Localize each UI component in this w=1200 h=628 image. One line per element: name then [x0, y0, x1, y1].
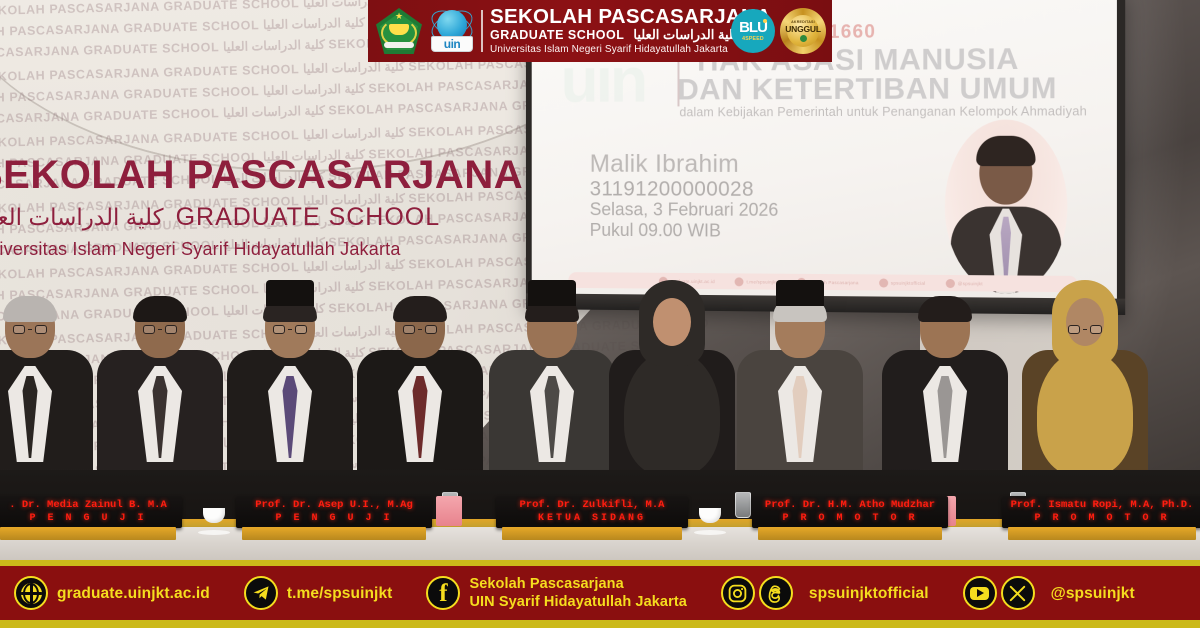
slide-date: Selasa, 3 Februari 2026 [590, 199, 779, 220]
nameplate-stand [758, 527, 942, 540]
x-icon [1001, 576, 1035, 610]
unggul-accreditation-icon: AKREDITASI UNGGUL [780, 8, 826, 54]
person-face [653, 298, 691, 346]
facebook-label-block: Sekolah Pascasarjana UIN Syarif Hidayatu… [469, 575, 686, 611]
nameplate-name: Prof. Dr. Asep U.I., M.Ag [255, 499, 413, 512]
banner-divider [481, 10, 483, 52]
nameplate: Prof. Dr. Zulkifli, M.AKETUA SIDANG [496, 496, 688, 528]
website-label: graduate.uinjkt.ac.id [57, 584, 210, 603]
nameplate: . Dr. Media Zainul B. M.AP E N G U J I [0, 496, 182, 528]
person-eyeglasses [273, 325, 307, 334]
banner-text-block: SEKOLAH PASCASARJANA GRADUATE SCHOOL كلي… [490, 6, 725, 56]
slide-title-line2: DAN KETERTIBAN UMUM [677, 72, 1056, 108]
backdrop-headline: SEKOLAH PASCASARJANA كلية الدراسات العلي… [0, 155, 516, 260]
banner-subtitle: Universitas Islam Negeri Syarif Hidayatu… [490, 43, 725, 56]
kemenag-logo-icon: ★ [376, 8, 422, 54]
nameplate-name: Prof. Ismatu Ropi, M.A, Ph.D. [1011, 499, 1194, 512]
slide-candidate-nim: 31191200000028 [590, 178, 754, 202]
person-hijab [624, 350, 720, 476]
banner-title-en: GRADUATE SCHOOL [490, 28, 624, 43]
person-face [1066, 298, 1104, 346]
nameplate-stand [502, 527, 682, 540]
blu-wordmark: BLU [739, 21, 767, 35]
person-eyeglasses [403, 325, 437, 334]
footer-item-instagram-threads[interactable]: spsuinjktofficial [721, 576, 929, 610]
nameplate: Prof. Ismatu Ropi, M.A, Ph.D.P R O M O T… [1002, 496, 1200, 528]
slide-candidate-name: Malik Ibrahim [590, 150, 739, 179]
person-hair [918, 296, 972, 322]
nameplate-stand [1008, 527, 1196, 540]
person-songkok-cap [266, 280, 314, 306]
footer-item-telegram[interactable]: t.me/spsuinjkt [244, 576, 393, 610]
slide-subtitle: dalam Kebijakan Pemerintah untuk Penanga… [679, 104, 1087, 119]
institution-banner: ★ uin SEKOLAH PASCASARJANA GRADUATE SCHO… [368, 0, 832, 62]
facebook-label-line1: Sekolah Pascasarjana [469, 575, 686, 593]
facebook-icon: f [426, 576, 460, 610]
instagram-threads-label: spsuinjktofficial [809, 584, 929, 603]
person-hair [133, 296, 187, 322]
tissue-box [436, 496, 462, 526]
instagram-icon [721, 576, 755, 610]
banner-title-ar: كلية الدراسات العليا [633, 27, 739, 42]
x-label: @spsuinjkt [1051, 584, 1135, 603]
telegram-label: t.me/spsuinjkt [287, 584, 393, 603]
footer-item-youtube-x[interactable]: @spsuinjkt [963, 576, 1135, 610]
backdrop-title-id: SEKOLAH PASCASARJANA [0, 155, 516, 195]
slide-time: Pukul 09.00 WIB [590, 220, 721, 241]
nameplate-name: Prof. Dr. Zulkifli, M.A [520, 499, 665, 512]
person-hair [393, 296, 447, 322]
banner-title-id: SEKOLAH PASCASARJANA [490, 6, 725, 27]
nameplate: Prof. Dr. H.M. Atho MudzharP R O M O T O… [752, 496, 948, 528]
screenshot-canvas: SEKOLAH PASCASARJANA GRADUATE SCHOOL كلي… [0, 0, 1200, 628]
footer-item-website[interactable]: graduate.uinjkt.ac.id [14, 576, 210, 610]
drinking-glass [735, 492, 751, 518]
nameplate-stand [0, 527, 176, 540]
backdrop-title-ar: كلية الدراسات العليا [0, 204, 164, 231]
unggul-main-label: UNGGUL [785, 24, 821, 34]
event-photograph: SEKOLAH PASCASARJANA GRADUATE SCHOOL كلي… [0, 0, 1200, 560]
nameplate-name: Prof. Dr. H.M. Atho Mudzhar [765, 499, 935, 512]
backdrop-title-en: GRADUATE SCHOOL [176, 203, 441, 232]
person-eyeglasses [143, 325, 177, 334]
uin-logo-icon: uin [426, 8, 478, 54]
slide-candidate-portrait [945, 119, 1068, 294]
blu-sub-label: 4SPEED [742, 36, 764, 42]
nameplate-name: . Dr. Media Zainul B. M.A [9, 499, 167, 512]
person-hijab [1037, 350, 1133, 476]
person-eyeglasses [1068, 325, 1102, 334]
person-songkok-cap [528, 280, 576, 306]
telegram-icon [244, 576, 278, 610]
person-eyeglasses [13, 325, 47, 334]
facebook-label-line2: UIN Syarif Hidayatullah Jakarta [469, 593, 686, 611]
nameplate-role: KETUA SIDANG [538, 512, 646, 525]
backdrop-subtitle: Universitas Islam Negeri Syarif Hidayatu… [0, 239, 516, 260]
nameplate-role: P E N G U J I [275, 512, 392, 525]
footer-item-facebook[interactable]: f Sekolah Pascasarjana UIN Syarif Hidaya… [426, 575, 686, 611]
nameplate-role: P E N G U J I [29, 512, 146, 525]
person-hair [3, 296, 57, 322]
nameplate-stand [242, 527, 426, 540]
youtube-icon [963, 576, 997, 610]
nameplate-role: P R O M O T O R [782, 512, 917, 525]
nameplate: Prof. Dr. Asep U.I., M.AgP E N G U J I [236, 496, 432, 528]
blu-logo-icon: BLU 4SPEED [731, 9, 775, 53]
person-songkok-cap [776, 280, 824, 306]
social-media-footer: graduate.uinjkt.ac.id t.me/spsuinjkt f S… [0, 560, 1200, 628]
globe-icon [14, 576, 48, 610]
nameplate-role: P R O M O T O R [1034, 512, 1169, 525]
threads-icon [759, 576, 793, 610]
